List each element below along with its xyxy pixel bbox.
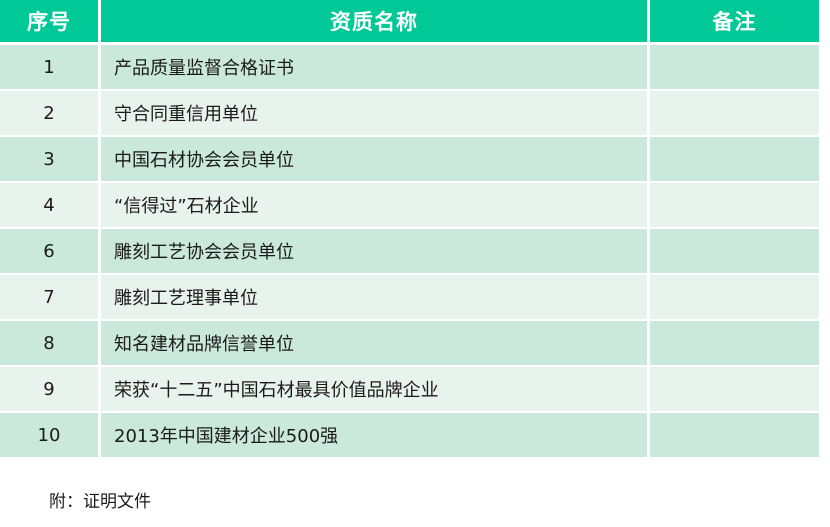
cell-index: 10 — [0, 413, 101, 459]
footer-note: 附：证明文件 — [49, 487, 151, 512]
table-row: 8知名建材品牌信誉单位 — [0, 321, 819, 367]
cell-index: 9 — [0, 367, 101, 413]
cell-qualification-name: 中国石材协会会员单位 — [101, 137, 650, 183]
cell-remark — [650, 45, 819, 91]
table-row: 6雕刻工艺协会会员单位 — [0, 229, 819, 275]
document-page: 序号 资质名称 备注 1产品质量监督合格证书2守合同重信用单位3中国石材协会会员… — [0, 0, 830, 527]
cell-remark — [650, 413, 819, 459]
cell-index: 2 — [0, 91, 101, 137]
cell-index: 7 — [0, 275, 101, 321]
table-body: 1产品质量监督合格证书2守合同重信用单位3中国石材协会会员单位4“信得过”石材企… — [0, 45, 819, 459]
cell-remark — [650, 229, 819, 275]
table-header-row: 序号 资质名称 备注 — [0, 0, 819, 45]
table-row: 102013年中国建材企业500强 — [0, 413, 819, 459]
table-row: 3中国石材协会会员单位 — [0, 137, 819, 183]
cell-qualification-name: “信得过”石材企业 — [101, 183, 650, 229]
cell-remark — [650, 367, 819, 413]
cell-index: 3 — [0, 137, 101, 183]
cell-qualification-name: 雕刻工艺协会会员单位 — [101, 229, 650, 275]
cell-qualification-name: 产品质量监督合格证书 — [101, 45, 650, 91]
cell-index: 8 — [0, 321, 101, 367]
cell-remark — [650, 321, 819, 367]
table-row: 7雕刻工艺理事单位 — [0, 275, 819, 321]
cell-index: 1 — [0, 45, 101, 91]
table-row: 2守合同重信用单位 — [0, 91, 819, 137]
table-header: 序号 资质名称 备注 — [0, 0, 819, 45]
table-row: 4“信得过”石材企业 — [0, 183, 819, 229]
cell-qualification-name: 2013年中国建材企业500强 — [101, 413, 650, 459]
cell-qualification-name: 荣获“十二五”中国石材最具价值品牌企业 — [101, 367, 650, 413]
cell-remark — [650, 137, 819, 183]
column-header-index: 序号 — [0, 0, 101, 45]
cell-qualification-name: 雕刻工艺理事单位 — [101, 275, 650, 321]
cell-index: 6 — [0, 229, 101, 275]
cell-qualification-name: 守合同重信用单位 — [101, 91, 650, 137]
cell-remark — [650, 275, 819, 321]
cell-qualification-name: 知名建材品牌信誉单位 — [101, 321, 650, 367]
cell-remark — [650, 183, 819, 229]
table-row: 9荣获“十二五”中国石材最具价值品牌企业 — [0, 367, 819, 413]
table-row: 1产品质量监督合格证书 — [0, 45, 819, 91]
cell-index: 4 — [0, 183, 101, 229]
column-header-remark: 备注 — [650, 0, 819, 45]
cell-remark — [650, 91, 819, 137]
column-header-name: 资质名称 — [101, 0, 650, 45]
qualifications-table: 序号 资质名称 备注 1产品质量监督合格证书2守合同重信用单位3中国石材协会会员… — [0, 0, 819, 459]
